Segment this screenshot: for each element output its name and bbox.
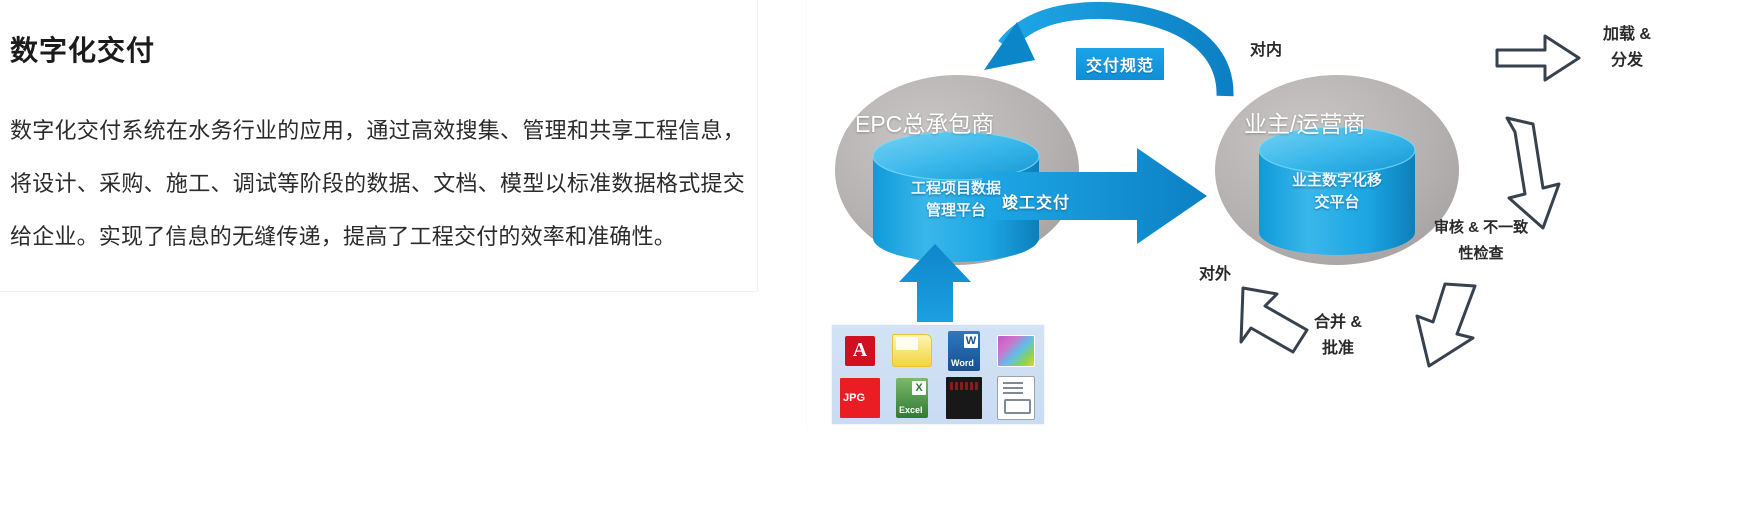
merge-approve-line1: 合并 & (1293, 310, 1383, 336)
load-distribute-outline-arrow (1497, 36, 1579, 80)
folder-icon (887, 328, 937, 374)
merge-outline-arrow-right (1417, 284, 1475, 366)
owner-platform-line2: 交平台 (1242, 192, 1432, 214)
audit-check-label: 审核 & 不一致 性检查 (1401, 215, 1561, 267)
article-paragraph: 数字化交付系统在水务行业的应用，通过高效搜集、管理和共享工程信息，将设计、采购、… (10, 104, 745, 263)
load-distribute-line2: 分发 (1582, 48, 1672, 74)
excel-file-icon: Excel (887, 376, 937, 422)
audit-outline-arrow (1507, 118, 1559, 228)
epc-node-title: EPC总承包商 (855, 105, 994, 139)
digital-delivery-text-panel: 数字化交付 数字化交付系统在水务行业的应用，通过高效搜集、管理和共享工程信息，将… (0, 0, 758, 292)
page-title: 数字化交付 (10, 29, 155, 69)
audit-check-line2: 性检查 (1401, 241, 1561, 267)
jpg-icon-label: JPG (840, 392, 865, 404)
handover-arrow-label: 竣工交付 (992, 185, 1080, 217)
pdf-file-icon (835, 328, 885, 374)
spec-arrow-label: 交付规范 (1076, 48, 1164, 80)
image-file-icon (991, 328, 1041, 374)
load-distribute-label: 加载 & 分发 (1582, 22, 1672, 74)
internal-label: 对内 (1250, 38, 1282, 64)
word-icon-label: Word (948, 359, 974, 371)
merge-approve-line2: 批准 (1293, 336, 1383, 362)
document-file-icon (991, 376, 1041, 422)
merge-approve-label: 合并 & 批准 (1293, 310, 1383, 362)
jpg-file-icon: JPG (835, 376, 885, 422)
file-type-icon-board: Word JPG Excel (832, 325, 1044, 424)
owner-platform-line1: 业主数字化移 (1242, 170, 1432, 192)
owner-platform-caption: 业主数字化移 交平台 (1242, 170, 1432, 214)
owner-node-title: 业主/运营商 (1244, 105, 1365, 139)
external-label: 对外 (1199, 262, 1231, 288)
cad-file-icon (939, 376, 989, 422)
excel-icon-label: Excel (896, 406, 923, 418)
audit-check-line1: 审核 & 不一致 (1401, 215, 1561, 241)
page-root: 数字化交付 数字化交付系统在水务行业的应用，通过高效搜集、管理和共享工程信息，将… (0, 0, 1760, 510)
word-file-icon: Word (939, 328, 989, 374)
load-distribute-line1: 加载 & (1582, 22, 1672, 48)
digital-delivery-diagram-panel: EPC总承包商 业主/运营商 工程项目数据 管理平台 业主数字化移 交平台 交付… (806, 0, 1760, 430)
